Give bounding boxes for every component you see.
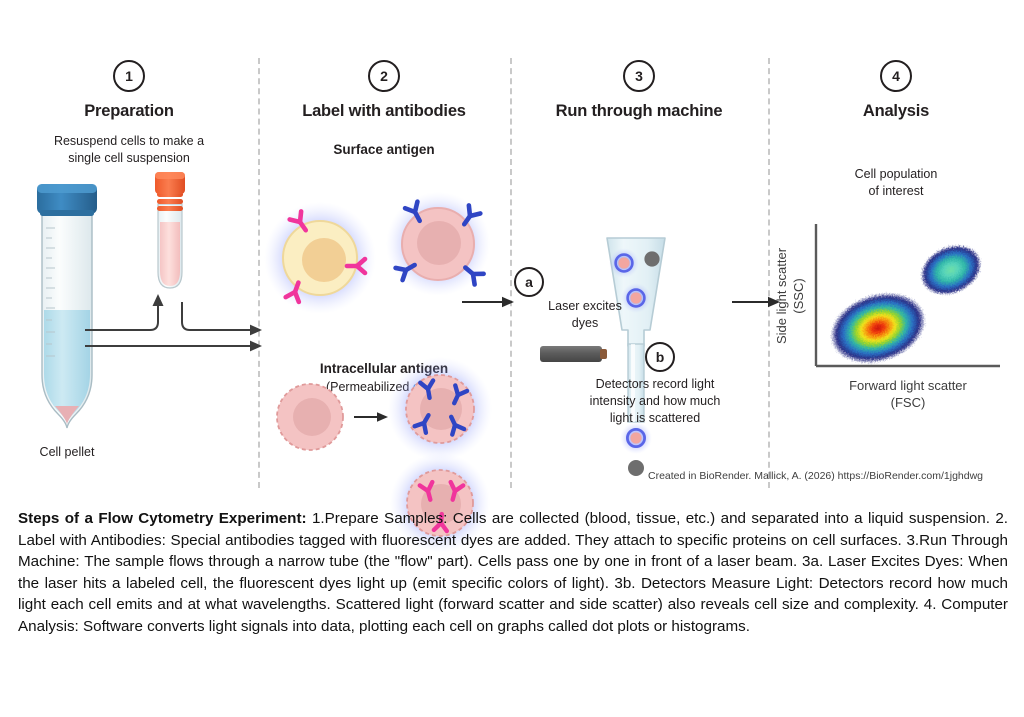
- population-of-interest: [913, 236, 989, 304]
- panel-number-2: 2: [368, 60, 400, 92]
- population-main: [822, 282, 934, 374]
- figure-caption: Steps of a Flow Cytometry Experiment: 1.…: [18, 508, 1008, 637]
- panel-title-label-antibodies: Label with antibodies: [258, 102, 510, 121]
- process-arrow-1: [85, 302, 258, 346]
- panel-label-antibodies: 2 Label with antibodies Surface antigen: [258, 60, 510, 394]
- x-axis-label-line1: Forward light scatter: [849, 378, 967, 393]
- cell-permeabilized-plain: [277, 384, 343, 450]
- y-axis-label-line1: Side light scatter: [774, 247, 789, 344]
- panel-preparation: 1 Preparation Resuspend cells to make a …: [0, 60, 258, 167]
- conical-tube-cell-pellet: [37, 184, 97, 428]
- suspension-tube: [155, 172, 185, 288]
- panel-run-machine: 3 Run through machine: [510, 60, 768, 121]
- panel-title-preparation: Preparation: [0, 102, 258, 121]
- x-axis-label-line2: (FSC): [891, 395, 926, 410]
- panel-number-4: 4: [880, 60, 912, 92]
- cell-unlabeled-1: [644, 251, 659, 266]
- cell-unlabeled-exit: [628, 460, 644, 476]
- arrowhead-up: [153, 294, 164, 306]
- cell-surface-cream: [264, 202, 376, 314]
- caption-lead: Steps of a Flow Cytometry Experiment:: [18, 510, 307, 527]
- cell-labeled-exit: [620, 422, 652, 454]
- cells-exiting-stream: [620, 422, 652, 476]
- cell-intracellular-blue: [388, 357, 492, 461]
- caption-body: 1.Prepare Samples: Cells are collected (…: [18, 510, 1008, 635]
- laser-device: [540, 346, 607, 362]
- panel-title-analysis: Analysis: [768, 102, 1024, 121]
- plot-annotation: Cell population of interest: [806, 166, 986, 200]
- cell-labeled-1: [609, 248, 639, 278]
- step-b-text: Detectors record light intensity and how…: [530, 376, 780, 427]
- step-a-text: Laser excites dyes: [520, 298, 650, 331]
- process-arrow-2: [462, 290, 522, 314]
- step-marker-b: b: [645, 342, 675, 372]
- y-axis-label-line2: (SSC): [791, 278, 806, 313]
- panel-subtitle-preparation: Resuspend cells to make a single cell su…: [0, 133, 258, 167]
- flow-cytometry-figure: 1 Preparation Resuspend cells to make a …: [0, 0, 1024, 497]
- step-b-group: b: [645, 342, 675, 372]
- section-title-surface-antigen: Surface antigen: [258, 142, 510, 157]
- preparation-graphic: Cell pellet: [0, 170, 258, 500]
- panel-number-1: 1: [113, 60, 145, 92]
- panel-number-3: 3: [623, 60, 655, 92]
- cell-pellet-label: Cell pellet: [40, 445, 95, 459]
- dot-plot: Forward light scatter (FSC) Side light s…: [768, 218, 1024, 438]
- panel-analysis: 4 Analysis Cell population of interest: [768, 60, 1024, 121]
- biorender-credit: Created in BioRender. Mallick, A. (2026)…: [648, 470, 1024, 482]
- permeabilize-arrow: [354, 412, 388, 422]
- cell-surface-pink: [386, 192, 490, 296]
